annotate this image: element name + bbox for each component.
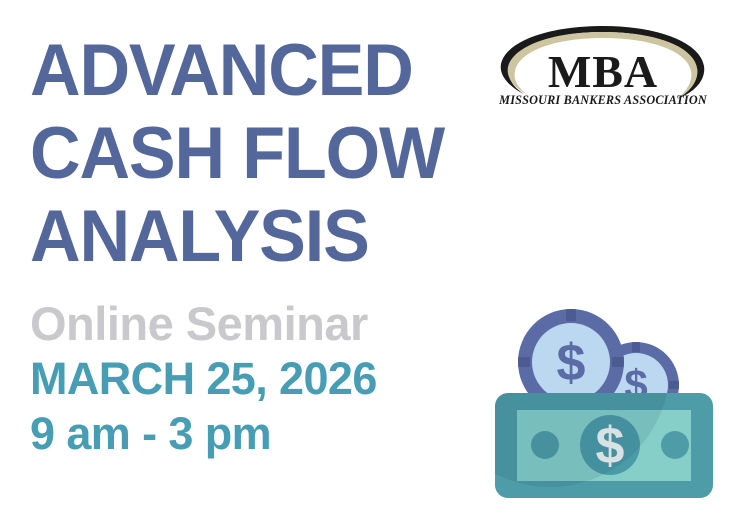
coin-right-notch-right (669, 381, 682, 389)
event-time: 9 am - 3 pm (30, 406, 500, 461)
event-details: Online Seminar MARCH 25, 2026 9 am - 3 p… (30, 296, 500, 461)
banknote-dot-right (661, 431, 689, 459)
logo-acronym: MBA (548, 46, 658, 97)
coin-left-notch-top (566, 305, 576, 321)
mba-logo: MBA MISSOURI BANKERS ASSOCIATION (497, 22, 710, 112)
logo-organization: MISSOURI BANKERS ASSOCIATION (498, 93, 708, 107)
poster-canvas: ADVANCED CASH FLOW ANALYSIS Online Semin… (0, 0, 750, 525)
coin-right-notch-top (632, 339, 640, 352)
money-illustration: $ $ (488, 295, 728, 505)
coin-left-notch-left (514, 357, 530, 367)
event-format: Online Seminar (30, 296, 500, 351)
coin-left-dollar-icon: $ (557, 334, 586, 392)
event-date: MARCH 25, 2026 (30, 351, 500, 406)
title-line-1: ADVANCED (30, 29, 481, 112)
title-line-2: CASH FLOW (30, 112, 481, 195)
page-title: ADVANCED CASH FLOW ANALYSIS (30, 29, 500, 278)
title-line-3: ANALYSIS (30, 195, 481, 278)
